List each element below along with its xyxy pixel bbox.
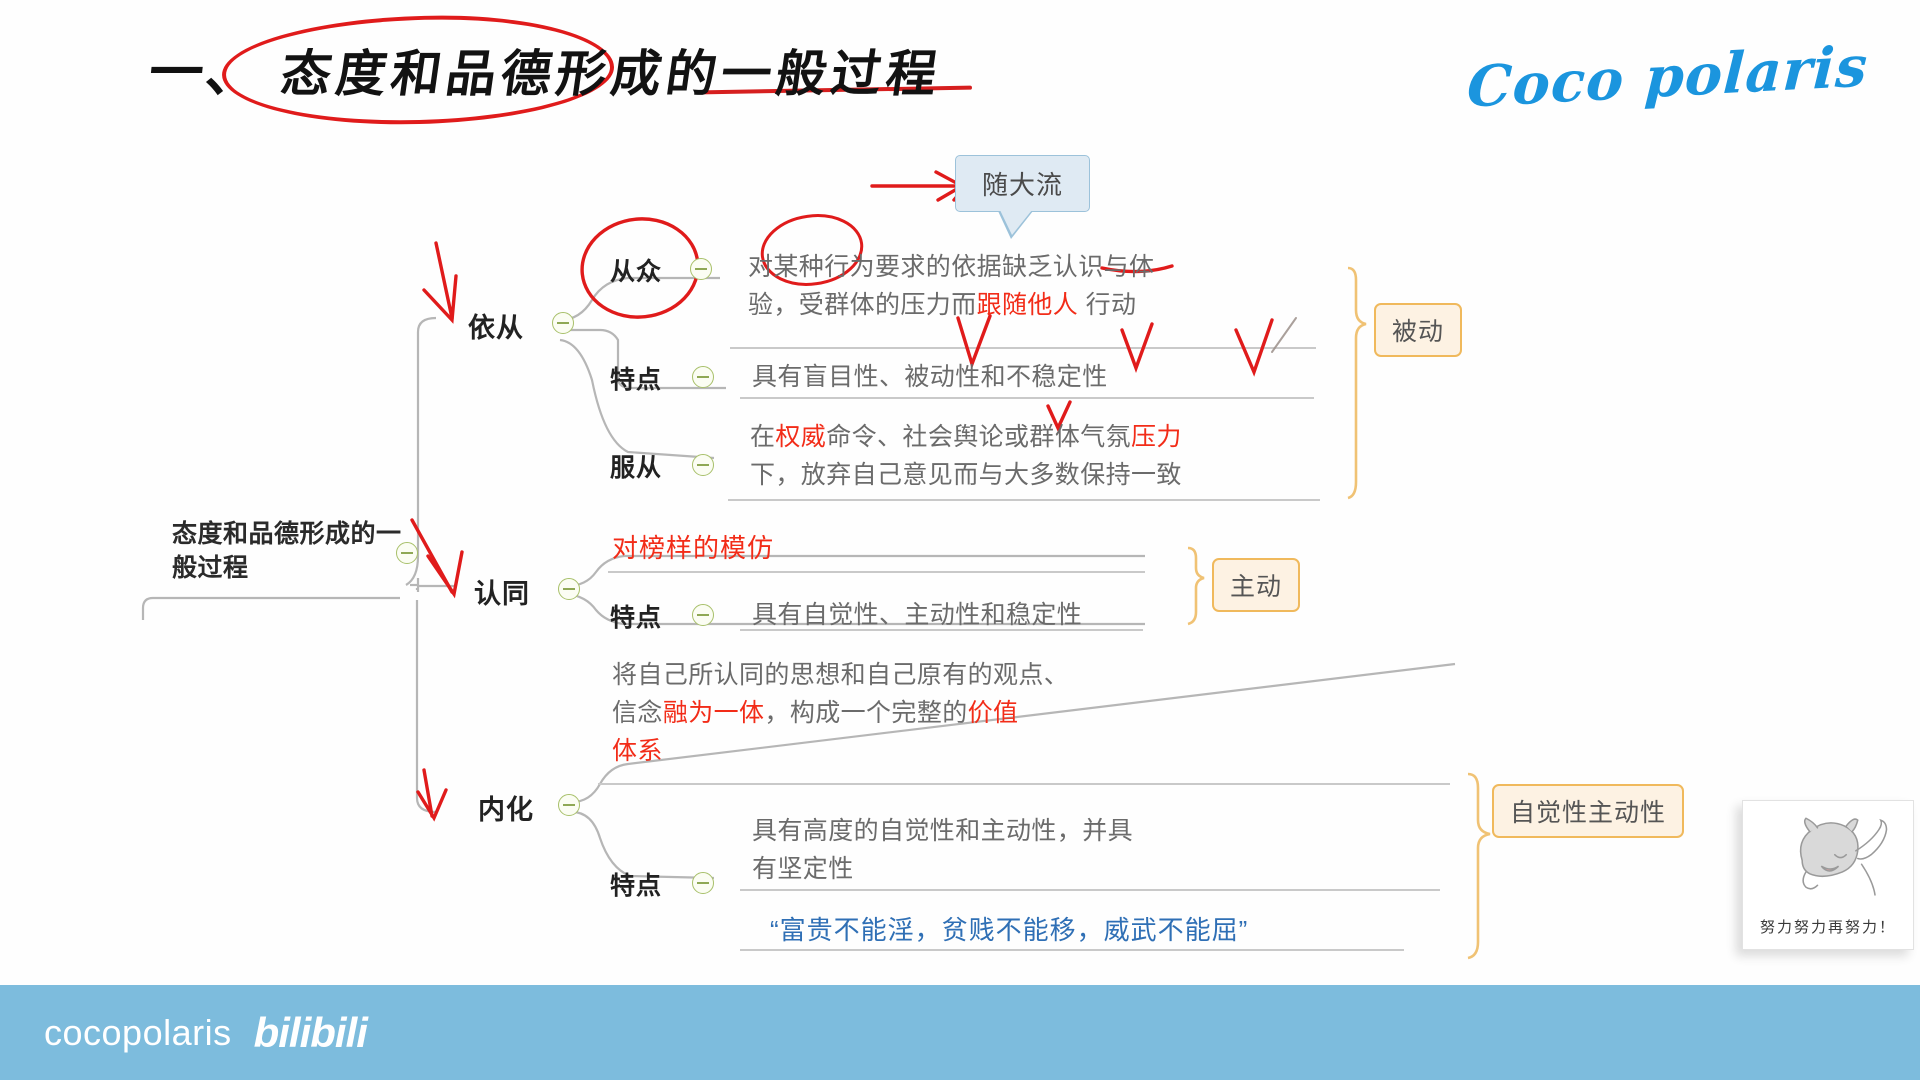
sticker-caption: 努力努力再努力！	[1743, 916, 1913, 937]
footer-username: cocopolaris	[44, 1012, 232, 1054]
collapse-icon-tedian-yicong[interactable]	[692, 366, 714, 388]
detail-fucong: 在权威命令、社会舆论或群体气氛压力 下，放弃自己意见而与大多数保持一致	[750, 418, 1350, 494]
detail-fucong-a: 在	[750, 423, 775, 451]
tag-zhudong: 主动	[1212, 558, 1300, 612]
detail-tedian-neihua-line1: 具有高度的自觉性和主动性，并具	[752, 817, 1133, 845]
detail-congzhong: 对某种行为要求的依据缺乏认识与体 验，受群体的压力而跟随他人 行动	[748, 248, 1328, 324]
quote-neihua: “富贵不能淫，贫贱不能移，威武不能屈”	[770, 910, 1248, 947]
detail-fucong-line2: 下，放弃自己意见而与大多数保持一致	[750, 461, 1182, 489]
detail-tedian-rentong: 具有自觉性、主动性和稳定性	[752, 596, 1082, 634]
collapse-icon-tedian-neihua[interactable]	[692, 872, 714, 894]
collapse-icon-tedian-rentong[interactable]	[692, 604, 714, 626]
tag-beidong: 被动	[1374, 303, 1462, 357]
note-rentong-red: 对榜样的模仿	[612, 528, 774, 565]
page-title: 一、 态度和品德形成的一般过程	[150, 28, 942, 107]
detail-neihua-line2-b: ，构成一个完整的	[764, 699, 967, 727]
node-label-tedian-yicong[interactable]: 特点	[610, 360, 662, 396]
cat-illustration	[1743, 801, 1915, 916]
node-label-tedian-rentong[interactable]: 特点	[610, 598, 662, 634]
node-label-tedian-neihua[interactable]: 特点	[610, 866, 662, 902]
collapse-icon-congzhong[interactable]	[690, 258, 712, 280]
branch-label-yicong[interactable]: 依从	[468, 306, 524, 345]
callout-bubble: 随大流	[955, 155, 1090, 212]
node-label-congzhong[interactable]: 从众	[610, 252, 662, 288]
detail-neihua-hl1: 融为一体	[663, 699, 765, 727]
detail-tedian-neihua: 具有高度的自觉性和主动性，并具 有坚定性	[752, 812, 1312, 888]
node-label-fucong[interactable]: 服从	[610, 448, 662, 484]
detail-congzhong-highlight: 跟随他人	[977, 291, 1079, 319]
slide-root: 一、 态度和品德形成的一般过程 Coco polaris	[0, 0, 1920, 1080]
collapse-icon-fucong[interactable]	[692, 454, 714, 476]
detail-fucong-hl1: 权威	[775, 423, 826, 451]
detail-congzhong-line2-b: 行动	[1078, 291, 1136, 319]
title-text: 态度和品德形成的一般过程	[277, 34, 947, 106]
branch-label-rentong[interactable]: 认同	[474, 572, 530, 611]
detail-neihua-hl2: 价值	[968, 699, 1019, 727]
detail-tedian-yicong: 具有盲目性、被动性和不稳定性	[752, 358, 1108, 396]
detail-neihua-line2-a: 信念	[612, 699, 663, 727]
title-number: 一、	[146, 28, 266, 107]
detail-neihua-line1: 将自己所认同的思想和自己原有的观点、	[612, 661, 1069, 689]
footer-platform-logo: bilibili	[254, 1009, 367, 1057]
cat-sticker: 努力努力再努力！	[1742, 800, 1914, 950]
tag-zijuexing-zhudongxing: 自觉性主动性	[1492, 784, 1684, 838]
detail-fucong-b: 命令、社会舆论或群体气氛	[826, 423, 1131, 451]
collapse-icon-yicong[interactable]	[552, 312, 574, 334]
collapse-icon-rentong[interactable]	[558, 578, 580, 600]
detail-congzhong-line1: 对某种行为要求的依据缺乏认识与体	[748, 253, 1154, 281]
detail-neihua-hl3: 体系	[612, 737, 663, 765]
collapse-icon-neihua[interactable]	[558, 794, 580, 816]
detail-neihua: 将自己所认同的思想和自己原有的观点、 信念融为一体，构成一个完整的价值 体系	[612, 656, 1172, 770]
footer-bar: cocopolaris bilibili	[0, 985, 1920, 1080]
collapse-icon-root[interactable]	[396, 542, 418, 564]
branch-label-neihua[interactable]: 内化	[478, 788, 534, 827]
detail-tedian-neihua-line2: 有坚定性	[752, 855, 854, 883]
mindmap-root-node[interactable]: 态度和品德形成的一般过程	[172, 518, 402, 586]
detail-fucong-hl2: 压力	[1131, 423, 1182, 451]
detail-congzhong-line2-a: 验，受群体的压力而	[748, 291, 977, 319]
